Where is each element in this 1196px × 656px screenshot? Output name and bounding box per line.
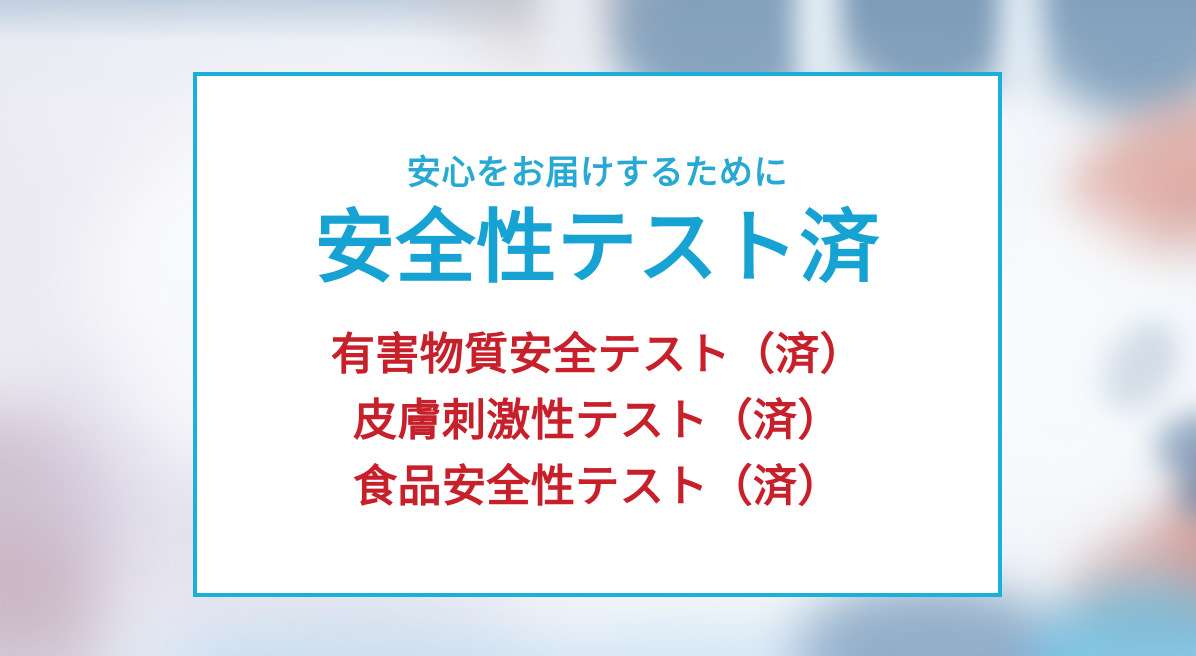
test-result-list: 有害物質安全テスト（済） 皮膚刺激性テスト（済） 食品安全性テスト（済） <box>331 333 864 509</box>
safety-test-banner: 安心をお届けするために 安全性テスト済 有害物質安全テスト（済） 皮膚刺激性テス… <box>0 0 1196 656</box>
list-item: 食品安全性テスト（済） <box>353 465 842 509</box>
eyebrow-text: 安心をお届けするために <box>407 156 788 190</box>
list-item: 有害物質安全テスト（済） <box>331 333 864 377</box>
content-card: 安心をお届けするために 安全性テスト済 有害物質安全テスト（済） 皮膚刺激性テス… <box>193 72 1002 597</box>
page-title: 安全性テスト済 <box>315 206 881 291</box>
list-item: 皮膚刺激性テスト（済） <box>353 399 842 443</box>
